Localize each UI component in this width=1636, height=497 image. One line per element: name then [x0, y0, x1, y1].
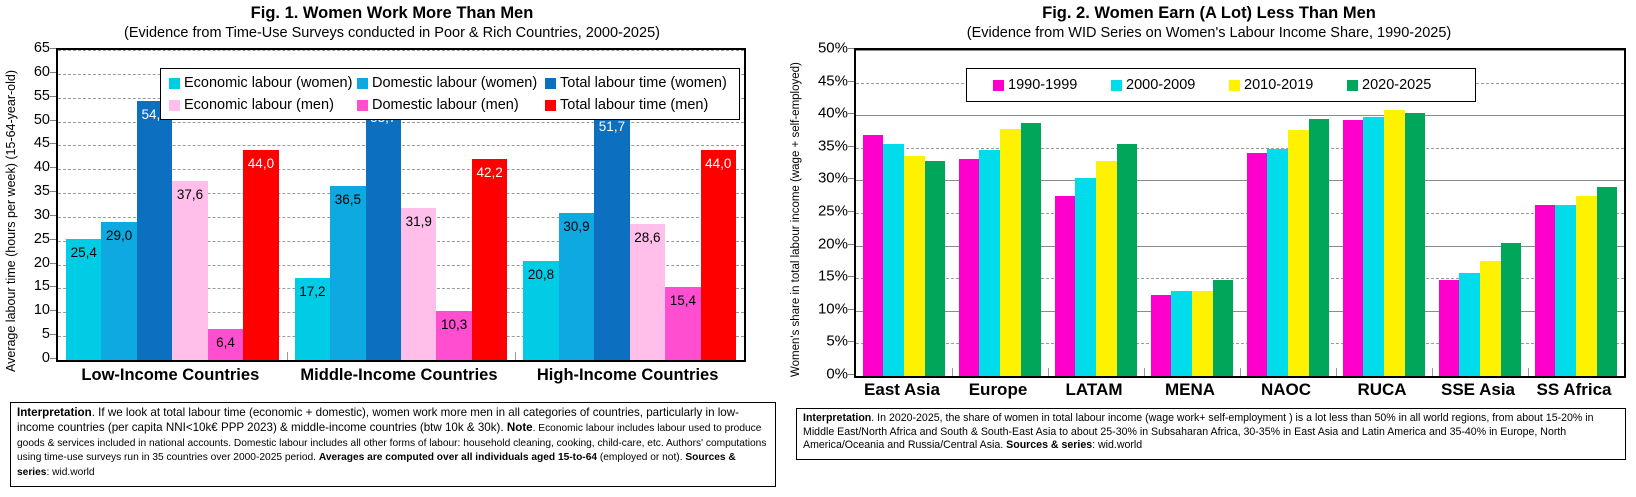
figure-1-title: Fig. 1. Women Work More Than Men	[6, 4, 778, 23]
figure-1-panel: Fig. 1. Women Work More Than Men (Eviden…	[0, 0, 786, 497]
bar	[559, 213, 594, 360]
sources-value: : wid.world	[46, 467, 94, 478]
bar	[959, 159, 980, 376]
legend-swatch-icon	[1347, 80, 1358, 91]
legend-item-label: 1990-1999	[1008, 77, 1077, 93]
x-axis-category-label: Low-Income Countries	[56, 366, 285, 385]
legend-swatch-icon	[1111, 80, 1122, 91]
averages-label: Averages are computed over all individua…	[319, 452, 597, 463]
figure-1-y-ticks: 05101520253035404550556065	[20, 46, 50, 391]
y-axis-tick-label: 20%	[818, 235, 848, 252]
bar	[1055, 196, 1076, 376]
bar	[1480, 261, 1501, 376]
category-separator	[1432, 368, 1433, 376]
bar	[137, 101, 172, 360]
y-axis-tick-label: 15%	[818, 268, 848, 285]
y-axis-tick-label: 15	[34, 278, 50, 294]
category-separator	[1048, 368, 1049, 376]
y-axis-tick-label: 30%	[818, 170, 848, 187]
figure-1-subtitle: (Evidence from Time-Use Surveys conducte…	[6, 25, 778, 42]
legend-swatch-icon	[993, 80, 1004, 91]
interpretation-label: Interpretation	[803, 412, 871, 424]
legend-item[interactable]: 2010-2019	[1229, 77, 1347, 93]
legend-swatch-icon	[1229, 80, 1240, 91]
figure-2-title: Fig. 2. Women Earn (A Lot) Less Than Men	[792, 4, 1626, 23]
y-axis-tick-label: 50	[34, 112, 50, 128]
interpretation-label: Interpretation	[17, 406, 92, 419]
y-axis-tick-label: 20	[34, 255, 50, 271]
x-axis-category-label: SSE Asia	[1430, 380, 1526, 400]
legend-item-label: 2020-2025	[1362, 77, 1431, 93]
bar	[979, 150, 1000, 376]
chart-legend: 1990-19992000-20092010-20192020-2025	[966, 68, 1476, 102]
category-separator	[287, 352, 288, 360]
category-separator	[515, 352, 516, 360]
y-axis-tick-label: 5	[42, 326, 50, 342]
legend-item-label: Economic labour (women)	[184, 75, 352, 91]
x-axis-category-label: LATAM	[1046, 380, 1142, 400]
bar	[1000, 129, 1021, 376]
x-axis-category-label: Europe	[950, 380, 1046, 400]
figure-2-y-ticks: 0%5%10%15%20%25%30%35%40%45%50%	[804, 46, 848, 396]
y-axis-tick-label: 60	[34, 64, 50, 80]
interpretation-text-3: (employed or not).	[597, 452, 685, 463]
bar	[1343, 120, 1364, 376]
bar-value-label: 37,6	[164, 187, 215, 202]
x-axis-category-label: High-Income Countries	[513, 366, 742, 385]
legend-item[interactable]: Total labour time (men)	[545, 97, 733, 113]
note-label: Note	[507, 421, 533, 434]
legend-item[interactable]: Domestic labour (men)	[357, 97, 545, 113]
legend-item[interactable]: 2000-2009	[1111, 77, 1229, 93]
category-separator	[1336, 368, 1337, 376]
bar	[1363, 117, 1384, 376]
y-axis-tick-label: 5%	[826, 333, 848, 350]
bar	[1171, 291, 1192, 376]
bar	[1267, 149, 1288, 376]
bar-value-label: 31,9	[393, 214, 444, 229]
legend-item-label: Total labour time (women)	[560, 75, 727, 91]
bar	[1535, 205, 1556, 376]
legend-item[interactable]: 2020-2025	[1347, 77, 1465, 93]
bar	[243, 150, 278, 360]
y-axis-tick-label: 50%	[818, 40, 848, 57]
legend-swatch-icon	[545, 78, 556, 89]
y-axis-tick-label: 45%	[818, 72, 848, 89]
interpretation-line-1: Interpretation. In 2020-2025, the share …	[803, 412, 1620, 453]
category-separator	[1144, 368, 1145, 376]
bar	[863, 135, 884, 376]
legend-item[interactable]: 1990-1999	[993, 77, 1111, 93]
y-axis-tick-label: 0	[42, 350, 50, 366]
figure-1-chart: Average labour time (hours per week) (15…	[0, 46, 786, 391]
category-separator	[1240, 368, 1241, 376]
y-axis-tick-label: 45	[34, 135, 50, 151]
figure-2-interpretation-box: Interpretation. In 2020-2025, the share …	[796, 408, 1626, 460]
y-axis-tick-label: 40	[34, 159, 50, 175]
y-axis-tick-label: 35	[34, 183, 50, 199]
bar	[925, 161, 946, 376]
bar	[1309, 119, 1330, 376]
figure-2-subtitle: (Evidence from WID Series on Women's Lab…	[792, 25, 1626, 42]
y-axis-tick-label: 25	[34, 231, 50, 247]
x-axis-category-label: RUCA	[1334, 380, 1430, 400]
bar-value-label: 44,0	[693, 156, 744, 171]
bar	[1288, 130, 1309, 376]
bar	[1151, 295, 1172, 377]
figure-2-panel: Fig. 2. Women Earn (A Lot) Less Than Men…	[786, 0, 1636, 497]
bar	[1459, 273, 1480, 376]
bar	[172, 181, 207, 360]
bar	[472, 159, 507, 360]
bar	[1576, 196, 1597, 376]
category-separator	[1528, 368, 1529, 376]
y-axis-tick-label: 10%	[818, 300, 848, 317]
x-axis-category-label: NAOC	[1238, 380, 1334, 400]
legend-swatch-icon	[357, 100, 368, 111]
bar	[1555, 205, 1576, 376]
bar-value-label: 44,0	[235, 156, 286, 171]
bar	[1021, 123, 1042, 376]
interpretation-text-1: . In 2020-2025, the share of women in to…	[803, 412, 1594, 451]
bar-value-label: 51,7	[586, 119, 637, 134]
bar	[1384, 110, 1405, 376]
bar	[1439, 280, 1460, 376]
legend-swatch-icon	[545, 100, 556, 111]
bar	[904, 156, 925, 376]
y-axis-tick-label: 25%	[818, 203, 848, 220]
legend-item[interactable]: Domestic labour (women)	[357, 75, 545, 91]
legend-item[interactable]: Total labour time (women)	[545, 75, 733, 91]
y-axis-tick-label: 30	[34, 207, 50, 223]
gridline	[856, 115, 1624, 116]
y-axis-tick-label: 0%	[826, 366, 848, 383]
bar	[701, 150, 736, 360]
figure-2-chart: Women's share in total labour income (wa…	[786, 46, 1636, 396]
x-axis-category-label: Middle-Income Countries	[285, 366, 514, 385]
y-axis-tick-label: 40%	[818, 105, 848, 122]
gridline	[58, 50, 744, 51]
legend-item-label: 2000-2009	[1126, 77, 1195, 93]
bar	[1597, 187, 1618, 376]
interpretation-line-1: Interpretation. If we look at total labo…	[17, 406, 770, 480]
legend-item[interactable]: Economic labour (women)	[169, 75, 357, 91]
legend-item[interactable]: Economic labour (men)	[169, 97, 357, 113]
figure-2-x-categories: East AsiaEuropeLATAMMENANAOCRUCASSE Asia…	[854, 380, 1626, 402]
bar	[1213, 280, 1234, 376]
y-axis-tick-label: 55	[34, 88, 50, 104]
legend-item-label: 2010-2019	[1244, 77, 1313, 93]
legend-item-label: Domestic labour (men)	[372, 97, 519, 113]
category-separator	[952, 368, 953, 376]
legend-row: Economic labour (women)Domestic labour (…	[169, 72, 733, 94]
bar-value-label: 42,2	[464, 165, 515, 180]
bar-value-label: 28,6	[622, 230, 673, 245]
legend-row: Economic labour (men)Domestic labour (me…	[169, 94, 733, 116]
legend-row: 1990-19992000-20092010-20192020-2025	[993, 74, 1467, 96]
bar	[1405, 113, 1426, 376]
bar	[330, 186, 365, 360]
bar	[1501, 243, 1522, 376]
bar	[366, 104, 401, 360]
y-axis-tick-label: 10	[34, 302, 50, 318]
y-axis-tick-label: 65	[34, 40, 50, 56]
legend-item-label: Domestic labour (women)	[372, 75, 537, 91]
figure-1-interpretation-box: Interpretation. If we look at total labo…	[10, 402, 776, 487]
legend-swatch-icon	[169, 100, 180, 111]
bar	[401, 208, 436, 360]
bar	[1247, 153, 1268, 376]
gridline	[856, 50, 1624, 51]
bar	[1075, 178, 1096, 376]
legend-swatch-icon	[357, 78, 368, 89]
sources-label: Sources & series	[1006, 439, 1092, 451]
figure-1-y-axis-label: Average labour time (hours per week) (15…	[4, 56, 20, 386]
x-axis-category-label: MENA	[1142, 380, 1238, 400]
chart-legend: Economic labour (women)Domestic labour (…	[160, 68, 740, 120]
bar	[1117, 144, 1138, 376]
figure-1-x-categories: Low-Income CountriesMiddle-Income Countr…	[56, 366, 746, 390]
legend-swatch-icon	[169, 78, 180, 89]
legend-item-label: Economic labour (men)	[184, 97, 334, 113]
sources-value: : wid.world	[1092, 439, 1142, 451]
legend-item-label: Total labour time (men)	[560, 97, 708, 113]
x-axis-category-label: East Asia	[854, 380, 950, 400]
bar	[1192, 291, 1213, 376]
bar	[883, 144, 904, 376]
x-axis-category-label: SS Africa	[1526, 380, 1622, 400]
y-axis-tick-label: 35%	[818, 137, 848, 154]
dual-chart-page: Fig. 1. Women Work More Than Men (Eviden…	[0, 0, 1636, 497]
bar	[1096, 161, 1117, 376]
gridline	[856, 148, 1624, 149]
